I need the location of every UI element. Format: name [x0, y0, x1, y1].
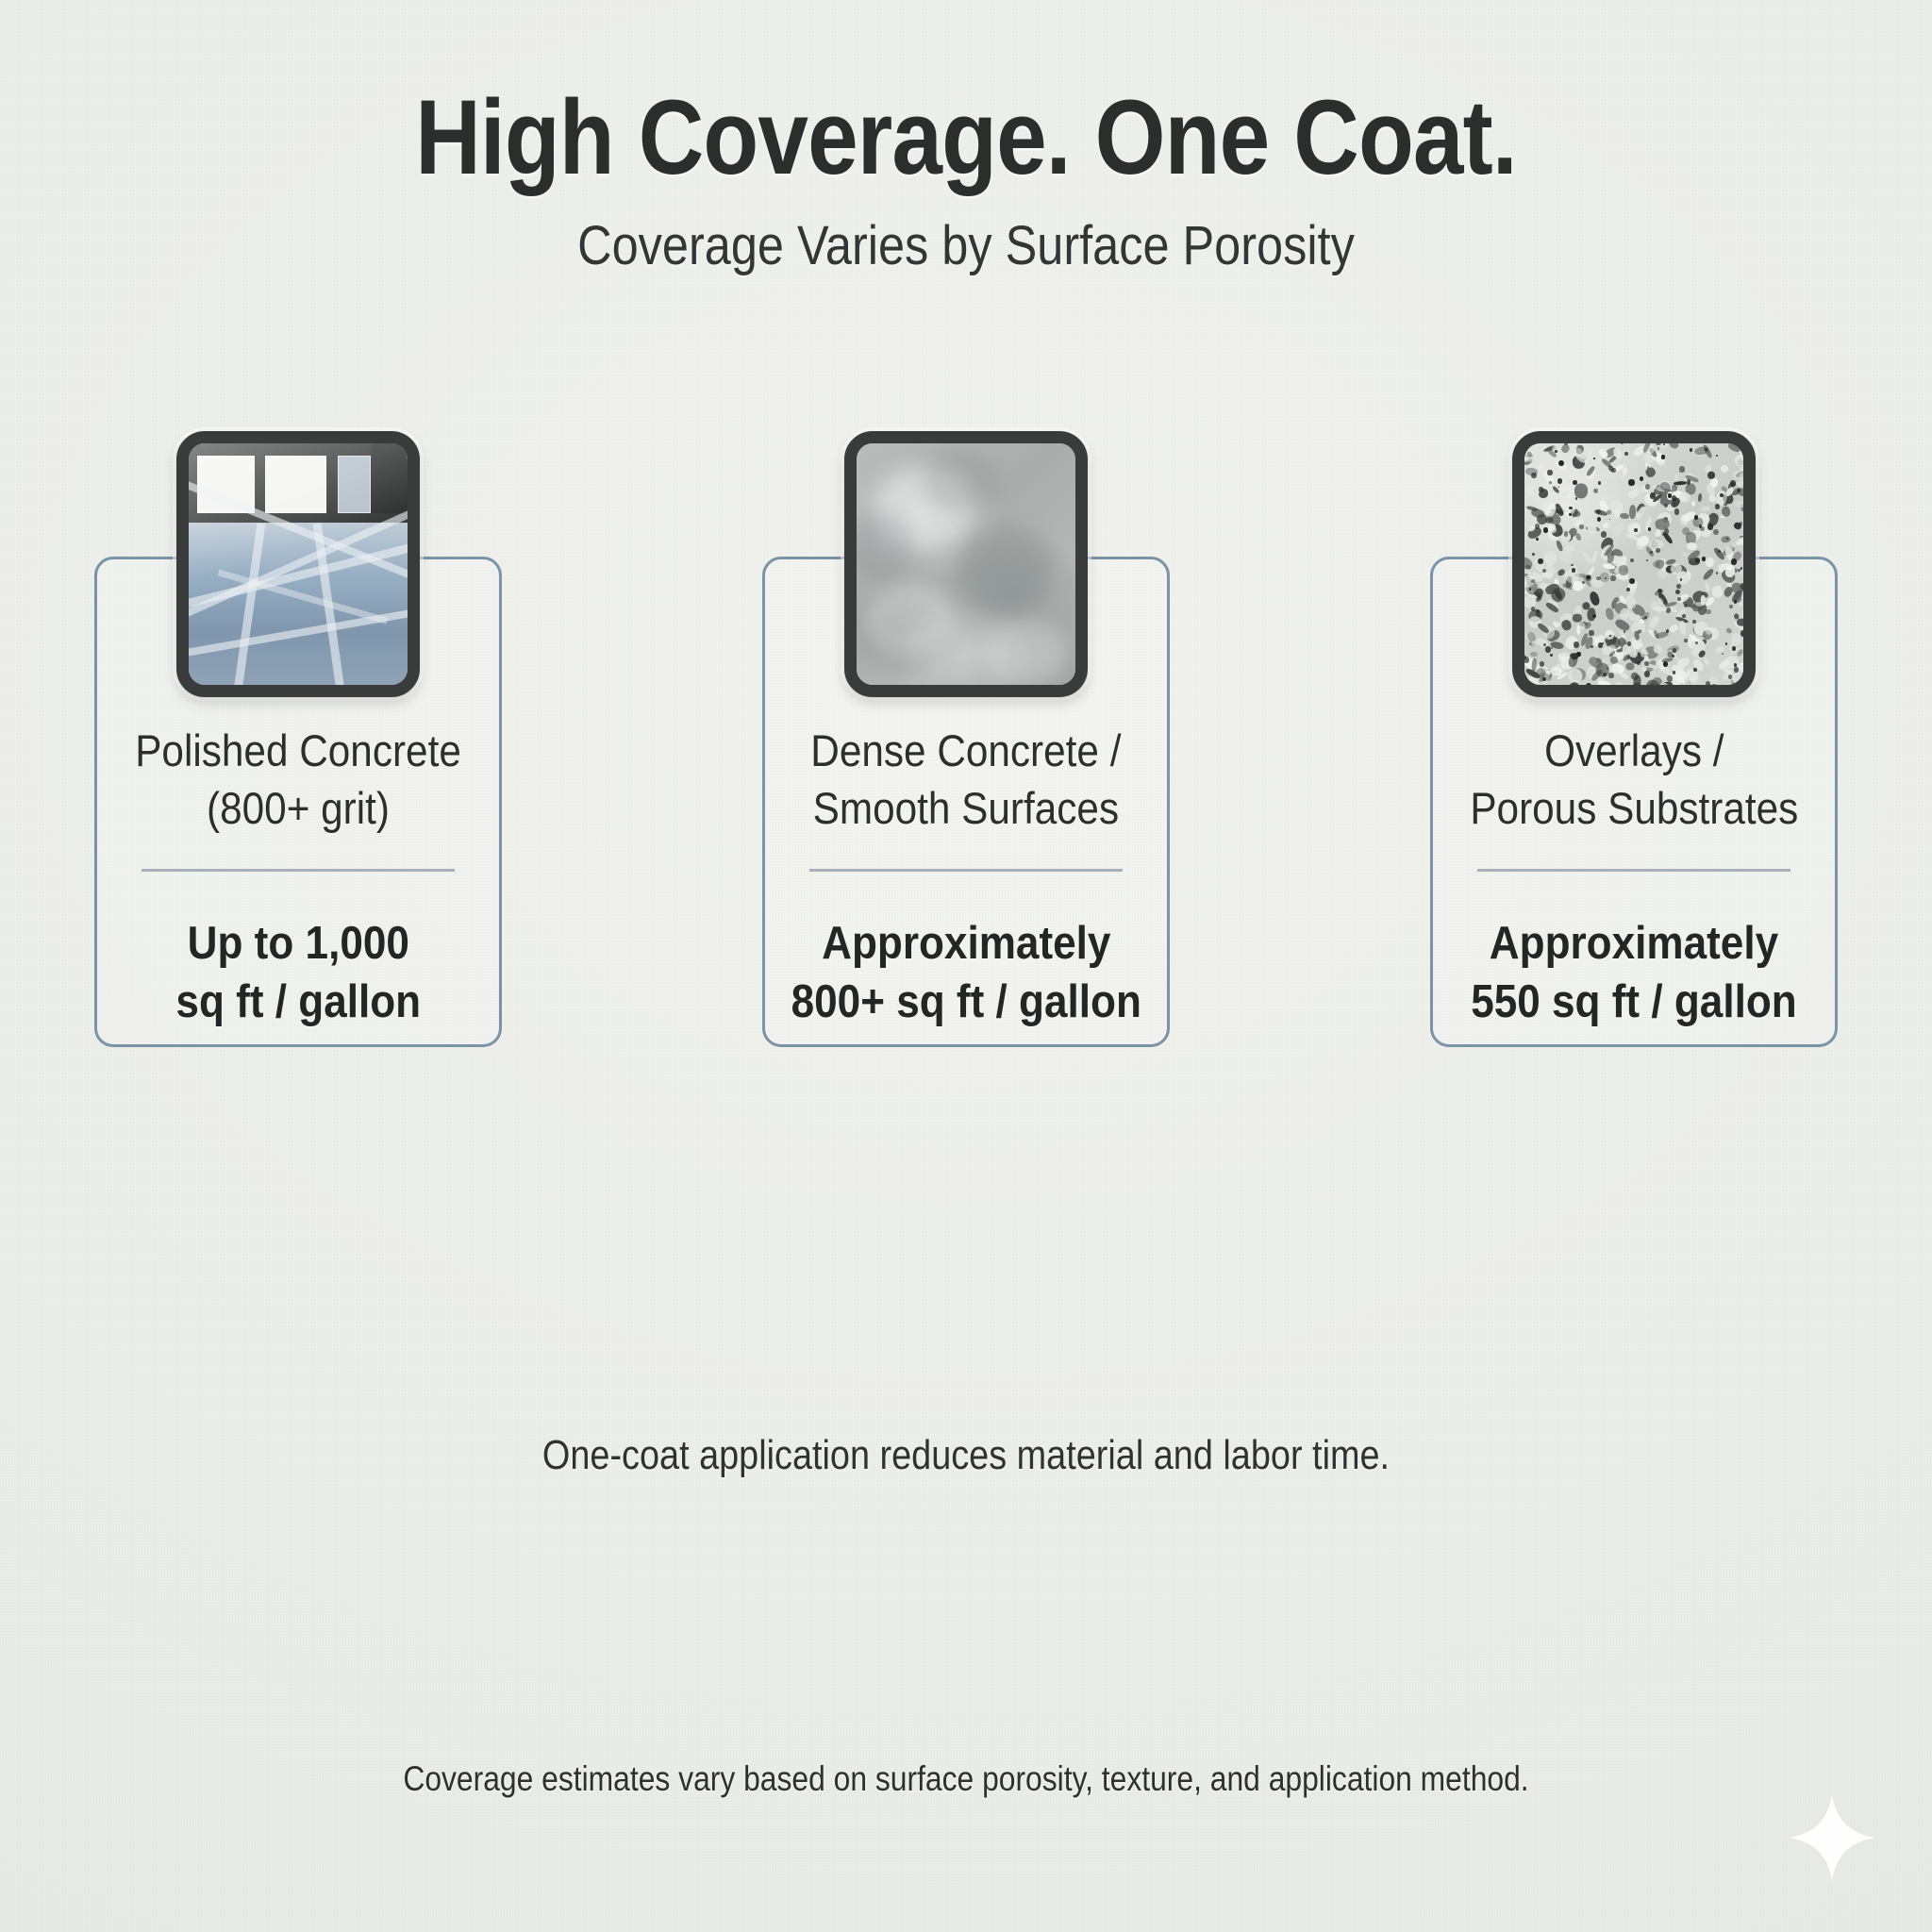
card-title: Dense Concrete / Smooth Surfaces	[810, 722, 1121, 837]
coverage-card-porous-substrates[interactable]: Overlays / Porous Substrates Approximate…	[1430, 557, 1838, 1047]
infographic-root: High Coverage. One Coat. Coverage Varies…	[0, 0, 1932, 1932]
card-coverage-value: Approximately 550 sq ft / gallon	[1471, 915, 1797, 1031]
card-title: Polished Concrete (800+ grit)	[135, 722, 461, 837]
header: High Coverage. One Coat. Coverage Varies…	[0, 81, 1932, 277]
card-coverage-value: Approximately 800+ sq ft / gallon	[791, 915, 1141, 1031]
polished-concrete-floor-photo-icon	[176, 431, 420, 697]
page-title: High Coverage. One Coat.	[135, 81, 1796, 195]
card-divider	[1477, 869, 1790, 872]
card-title: Overlays / Porous Substrates	[1470, 722, 1798, 837]
porous-overlay-substrate-photo-icon	[1512, 431, 1756, 697]
footnote-text: One-coat application reduces material an…	[135, 1432, 1796, 1479]
disclaimer-text: Coverage estimates vary based on surface…	[135, 1759, 1796, 1799]
polished-concrete-texture	[189, 443, 408, 685]
coverage-card-row: Polished Concrete (800+ grit) Up to 1,00…	[94, 557, 1838, 1047]
card-divider	[809, 869, 1123, 872]
card-coverage-value: Up to 1,000 sq ft / gallon	[175, 915, 421, 1031]
dense-smooth-concrete-photo-icon	[844, 431, 1088, 697]
card-divider	[142, 869, 455, 872]
page-subtitle: Coverage Varies by Surface Porosity	[125, 214, 1807, 277]
porous-aggregate-texture	[1524, 443, 1743, 685]
coverage-card-polished-concrete[interactable]: Polished Concrete (800+ grit) Up to 1,00…	[94, 557, 502, 1047]
coverage-card-dense-concrete[interactable]: Dense Concrete / Smooth Surfaces Approxi…	[762, 557, 1170, 1047]
dense-concrete-texture	[857, 443, 1075, 685]
sparkle-star-icon	[1787, 1792, 1877, 1883]
